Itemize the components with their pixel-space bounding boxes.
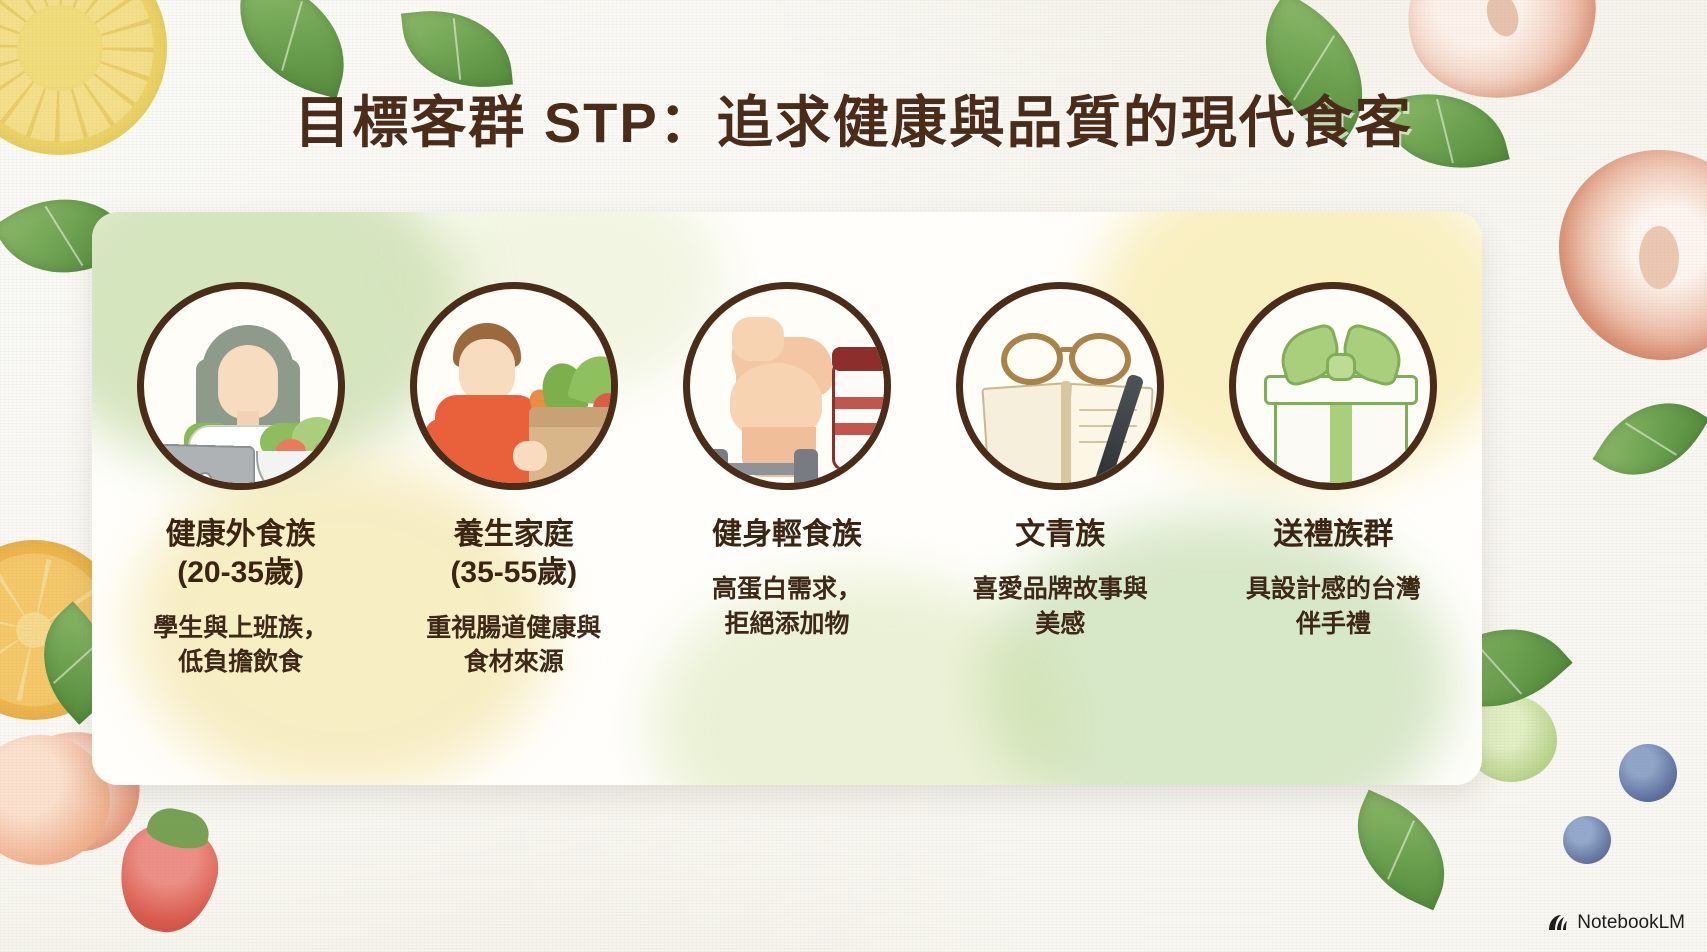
notebooklm-label: NotebookLM (1577, 912, 1685, 934)
notebooklm-watermark: NotebookLM (1547, 912, 1685, 934)
gift-box-ribbon-icon (1229, 282, 1437, 490)
notebooklm-logo-icon (1547, 913, 1569, 933)
slide-canvas: 目標客群 STP：追求健康與品質的現代食客 (0, 0, 1707, 952)
segment-title: 文青族 (1015, 516, 1105, 554)
strawberry-decoration (110, 815, 226, 941)
segment-title: 健身輕食族 (712, 516, 862, 554)
blueberry-decoration (1619, 744, 1677, 802)
segment-description: 喜愛品牌故事與 美感 (973, 572, 1148, 641)
notebook-glasses-pen-icon (956, 282, 1164, 490)
man-grocery-bag-icon (410, 282, 618, 490)
blueberry-decoration (1563, 816, 1611, 864)
leaf-decoration (1592, 378, 1707, 501)
page-title: 目標客群 STP：追求健康與品質的現代食客 (0, 78, 1707, 159)
segment-description: 具設計感的台灣 伴手禮 (1246, 572, 1421, 641)
segment-description: 重視腸道健康與 食材來源 (426, 611, 601, 680)
flexed-arm-shaker-dumbbell-icon (683, 282, 891, 490)
segment-description: 學生與上班族， 低負擔飲食 (153, 611, 328, 680)
segment-literary-youth[interactable]: 文青族 喜愛品牌故事與 美感 (924, 230, 1197, 777)
audience-segments-card: 健康外食族 (20-35歲) 學生與上班族， 低負擔飲食 (92, 212, 1482, 785)
segment-gift-buyers[interactable]: 送禮族群 具設計感的台灣 伴手禮 (1197, 230, 1470, 777)
segment-fitness-light-meal[interactable]: 健身輕食族 高蛋白需求， 拒絕添加物 (650, 230, 923, 777)
segment-description: 高蛋白需求， 拒絕添加物 (712, 572, 862, 641)
woman-laptop-salad-icon (137, 282, 345, 490)
segment-wellness-family[interactable]: 養生家庭 (35-55歲) 重視腸道健康與 食材來源 (377, 230, 650, 777)
segments-row: 健康外食族 (20-35歲) 學生與上班族， 低負擔飲食 (92, 212, 1482, 785)
leaf-decoration (1335, 790, 1468, 911)
segment-healthy-eater[interactable]: 健康外食族 (20-35歲) 學生與上班族， 低負擔飲食 (104, 230, 377, 777)
half-apple-decoration (1559, 150, 1707, 360)
segment-title: 送禮族群 (1273, 516, 1393, 554)
segment-title: 健康外食族 (20-35歲) (166, 516, 316, 593)
segment-title: 養生家庭 (35-55歲) (450, 516, 577, 593)
